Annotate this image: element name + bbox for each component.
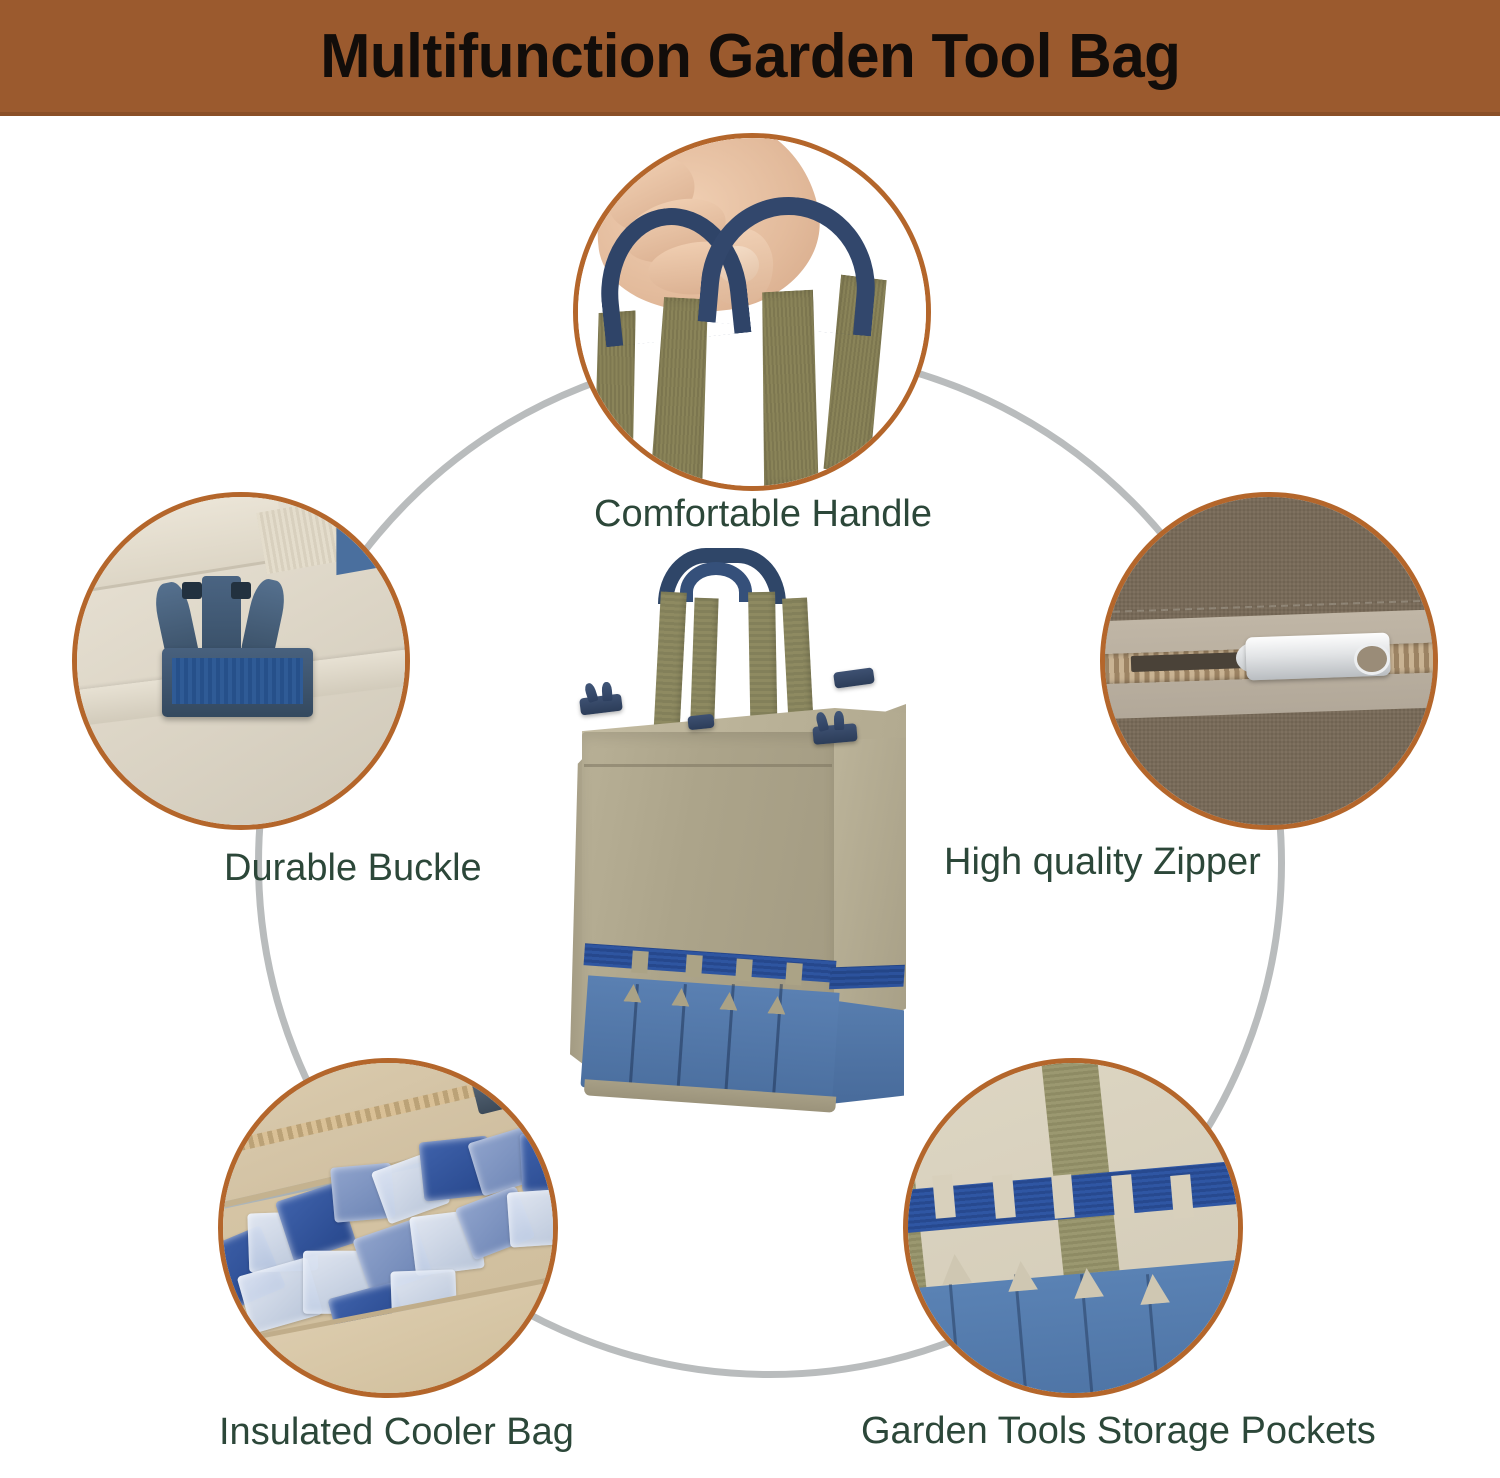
feature-inset-comfortable-handle	[573, 133, 931, 491]
handle-photo	[578, 138, 926, 486]
elastic-gap-3	[1051, 1174, 1074, 1218]
title-banner: Multifunction Garden Tool Bag	[0, 0, 1500, 116]
bag-elastic-notch-4	[785, 962, 802, 985]
feature-inset-durable-buckle	[72, 492, 410, 830]
buckle-photo	[77, 497, 405, 825]
pocket-notch-1	[940, 1253, 972, 1285]
bag-buckle-right-prong-b	[834, 711, 845, 730]
buckle-slot-right	[231, 582, 251, 598]
caption-high-quality-zipper: High quality Zipper	[944, 843, 1261, 881]
elastic-gap-1	[933, 1174, 956, 1218]
caption-garden-tools-storage-pockets: Garden Tools Storage Pockets	[861, 1412, 1376, 1450]
caption-comfortable-handle: Comfortable Handle	[594, 495, 932, 533]
bag-buckle-left-prong-b	[601, 682, 612, 702]
caption-insulated-cooler-bag: Insulated Cooler Bag	[219, 1413, 574, 1451]
bag-pocket-side	[830, 1000, 904, 1104]
blue-strap-end	[337, 498, 389, 574]
bag-buckle-left	[579, 694, 623, 716]
caption-durable-buckle: Durable Buckle	[224, 849, 482, 887]
bag-elastic-notch-2	[685, 954, 702, 977]
elastic-gap-2	[992, 1174, 1015, 1218]
buckle-slot-left	[182, 582, 202, 598]
zipper-photo	[1105, 497, 1433, 825]
infographic-canvas: Multifunction Garden Tool Bag	[0, 0, 1500, 1478]
bag-buckle-rear	[833, 667, 875, 688]
bag-elastic-band-side	[829, 965, 905, 990]
ice-cube	[507, 1188, 558, 1248]
product-image	[540, 548, 920, 1148]
elastic-gap-5	[1170, 1174, 1193, 1218]
feature-inset-insulated-cooler-bag	[218, 1058, 558, 1398]
page-title: Multifunction Garden Tool Bag	[320, 26, 1180, 88]
bag-elastic-notch-1	[631, 950, 648, 973]
elastic-gap-4	[1111, 1174, 1134, 1218]
bag-elastic-notch-3	[735, 958, 752, 981]
canvas-top-flap	[72, 492, 286, 596]
bag-buckle-inner	[687, 714, 714, 731]
bag-side-panel	[830, 704, 906, 1050]
cooler-photo	[223, 1063, 553, 1393]
buckle-webbing	[172, 658, 303, 704]
feature-inset-garden-tools-storage-pockets	[903, 1058, 1243, 1398]
feature-inset-high-quality-zipper	[1100, 492, 1438, 830]
pockets-photo	[908, 1063, 1238, 1393]
bag-flap-seam	[584, 764, 832, 767]
pocket-notch-2	[1006, 1260, 1038, 1292]
